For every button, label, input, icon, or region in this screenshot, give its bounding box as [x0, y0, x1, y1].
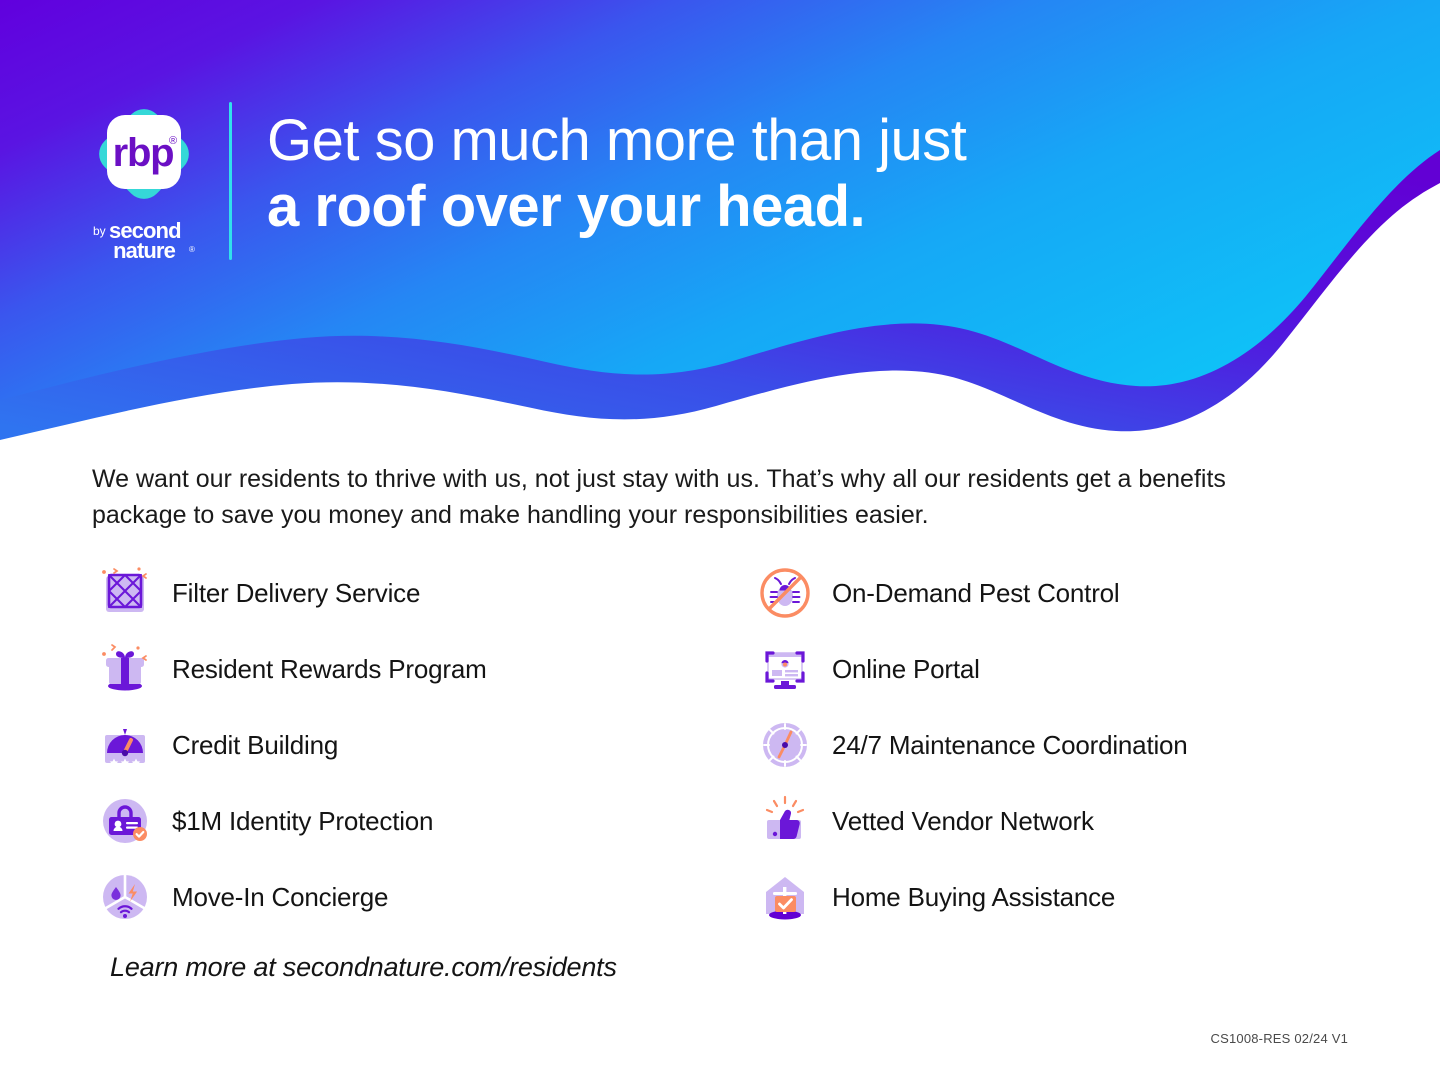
clock-icon [752, 712, 818, 778]
benefit-item-resident-rewards-program: Resident Rewards Program [92, 631, 752, 707]
benefit-item-move-in-concierge: Move-In Concierge [92, 859, 752, 935]
learn-more-text: Learn more at secondnature.com/residents [110, 952, 617, 983]
benefit-item-online-portal: Online Portal [752, 631, 1352, 707]
benefit-item-vetted-vendor-network: Vetted Vendor Network [752, 783, 1352, 859]
benefit-item-home-buying-assistance: Home Buying Assistance [752, 859, 1352, 935]
benefit-label: Credit Building [172, 730, 338, 761]
thumbs-up-icon [752, 788, 818, 854]
benefit-label: Home Buying Assistance [832, 882, 1115, 913]
intro-paragraph: We want our residents to thrive with us,… [92, 461, 1307, 533]
rbp-badge-icon: rbp ® [90, 100, 198, 208]
rbp-registered-mark: ® [169, 135, 177, 147]
no-pest-icon [752, 560, 818, 626]
hero-banner: rbp ® by second nature ® Get so much mor… [0, 0, 1440, 440]
home-sign-icon [752, 864, 818, 930]
benefit-label: On-Demand Pest Control [832, 578, 1120, 609]
benefits-column-right: On-Demand Pest Control Online [752, 555, 1352, 935]
rbp-wordmark-text: rbp [113, 131, 174, 175]
headline-line-2: a roof over your head. [267, 174, 966, 240]
wordmark-registered-mark: ® [189, 245, 195, 254]
benefit-label: Online Portal [832, 654, 980, 685]
document-code: CS1008-RES 02/24 V1 [1211, 1031, 1349, 1046]
second-nature-wordmark: by second nature ® [85, 218, 203, 264]
id-badge-lock-icon [92, 788, 158, 854]
credit-gauge-icon [92, 712, 158, 778]
benefit-item-pest-control: On-Demand Pest Control [752, 555, 1352, 631]
gift-box-icon [92, 636, 158, 702]
wordmark-nature-text: nature [113, 238, 176, 263]
benefit-item-maintenance-coordination: 24/7 Maintenance Coordination [752, 707, 1352, 783]
brand-logo-lockup: rbp ® by second nature ® [84, 100, 204, 264]
benefits-list: Filter Delivery Service Resident Rewards [92, 555, 1352, 935]
air-filter-icon [92, 560, 158, 626]
headline-line-1: Get so much more than just [267, 108, 966, 174]
hero-headline: Get so much more than just a roof over y… [267, 108, 966, 240]
desktop-monitor-icon [752, 636, 818, 702]
benefit-item-credit-building: Credit Building [92, 707, 752, 783]
benefits-column-left: Filter Delivery Service Resident Rewards [92, 555, 752, 935]
benefit-item-filter-delivery-service: Filter Delivery Service [92, 555, 752, 631]
benefit-label: Filter Delivery Service [172, 578, 420, 609]
benefit-item-identity-protection: $1M Identity Protection [92, 783, 752, 859]
benefit-label: Move-In Concierge [172, 882, 388, 913]
utilities-circle-icon [92, 864, 158, 930]
wordmark-by-text: by [93, 224, 106, 238]
hero-vertical-divider [229, 102, 232, 260]
benefit-label: Vetted Vendor Network [832, 806, 1094, 837]
benefit-label: $1M Identity Protection [172, 806, 433, 837]
benefit-label: Resident Rewards Program [172, 654, 487, 685]
benefit-label: 24/7 Maintenance Coordination [832, 730, 1188, 761]
